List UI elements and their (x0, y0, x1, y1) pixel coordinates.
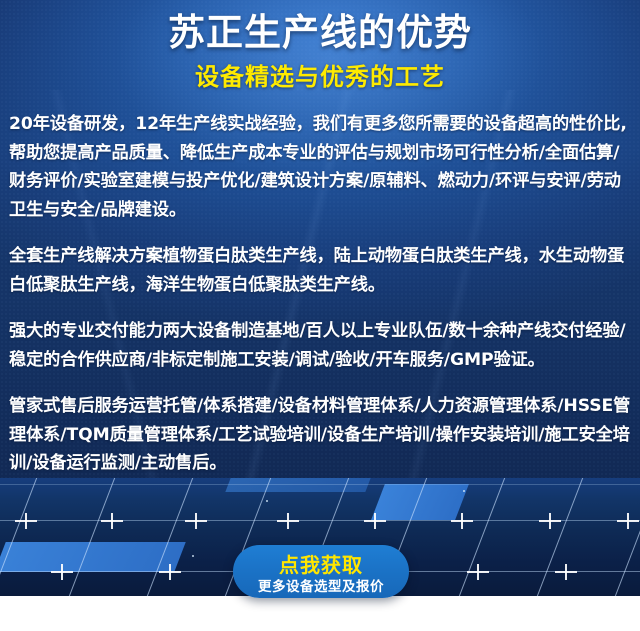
poster-header: 苏正生产线的优势 设备精选与优秀的工艺 (0, 0, 640, 92)
floor-grid-line (146, 478, 197, 596)
floor-grid-line (458, 478, 509, 596)
paragraph-advantages: 20年设备研发，12年生产线实战经验，我们有更多您所需要的设备超高的性价比,帮助… (9, 110, 634, 224)
promo-poster: VIP 苏正生产线的优势 (0, 0, 640, 631)
grid-sparkle-icon (539, 510, 561, 532)
get-quote-button-subtitle: 更多设备选型及报价 (233, 578, 409, 596)
floor-grid-line (614, 478, 640, 596)
floor-grid-line (0, 478, 41, 596)
floor-grid-line (536, 478, 587, 596)
page-title: 苏正生产线的优势 (0, 0, 640, 55)
grid-sparkle-icon (101, 510, 123, 532)
floor-tile-highlight (225, 478, 370, 492)
sparkle-dot-icon (266, 500, 268, 502)
grid-sparkle-icon (617, 510, 639, 532)
grid-sparkle-icon (185, 510, 207, 532)
get-quote-button-label: 点我获取 (233, 547, 409, 578)
floor-grid-line (0, 520, 640, 521)
sparkle-dot-icon (463, 490, 465, 492)
bottom-white-strip (0, 596, 640, 631)
paragraph-solutions: 全套生产线解决方案植物蛋白肽类生产线，陆上动物蛋白肽类生产线，水生动物蛋白低聚肽… (9, 242, 634, 299)
sparkle-dot-icon (192, 555, 194, 557)
floor-grid-line (68, 478, 119, 596)
paragraph-delivery: 强大的专业交付能力两大设备制造基地/百人以上专业队伍/数十余种产线交付经验/稳定… (9, 317, 634, 374)
paragraph-after-sales: 管家式售后服务运营托管/体系搭建/设备材料管理体系/人力资源管理体系/HSSE管… (9, 392, 634, 478)
floor-grid-line (0, 484, 640, 485)
floor-tile-highlight (371, 484, 469, 520)
body-copy: 20年设备研发，12年生产线实战经验，我们有更多您所需要的设备超高的性价比,帮助… (9, 110, 634, 478)
grid-sparkle-icon (277, 510, 299, 532)
page-subtitle: 设备精选与优秀的工艺 (0, 55, 640, 92)
grid-sparkle-icon (555, 561, 577, 583)
get-quote-button[interactable]: 点我获取 更多设备选型及报价 (233, 545, 409, 598)
